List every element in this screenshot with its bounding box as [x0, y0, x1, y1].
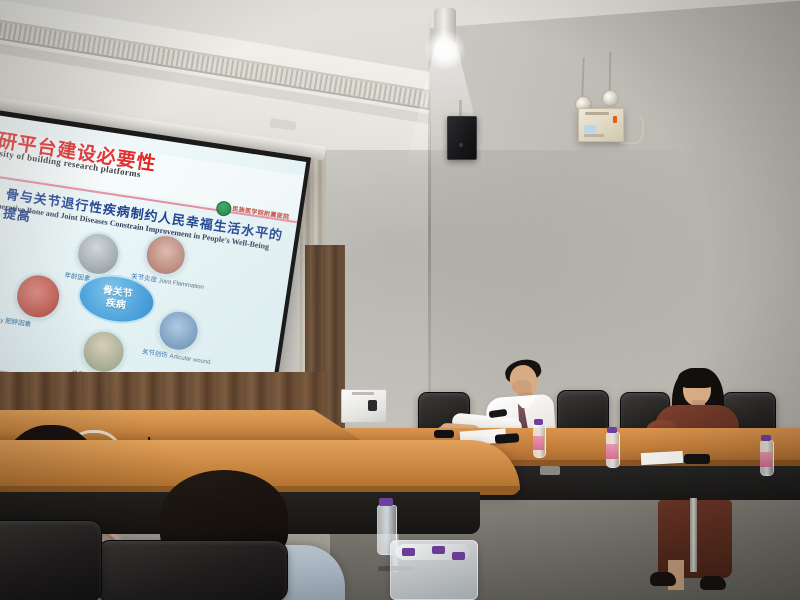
smartphone[interactable] [684, 454, 710, 464]
spotlight-glow [424, 30, 466, 70]
seated-woman-fringe [679, 372, 697, 388]
bottle-cap [432, 546, 445, 554]
emergency-lamp-right [602, 90, 619, 107]
bottle-cap [452, 552, 465, 560]
bottle-label [533, 436, 544, 450]
bottle-cap [761, 435, 771, 441]
chair-backrest [96, 540, 288, 600]
table-cable-latch[interactable] [540, 466, 560, 475]
chair-backrest [0, 520, 102, 600]
smartphone[interactable] [495, 433, 520, 444]
bottle-cap [607, 427, 617, 433]
paper-shredder-button[interactable] [368, 400, 377, 411]
bottle-label [760, 452, 772, 467]
emergency-light-badge [584, 125, 596, 133]
emergency-light-slot [585, 112, 609, 115]
wall-speaker-icon [447, 116, 477, 160]
emergency-light-led [613, 116, 617, 123]
table-leg [690, 498, 697, 572]
paper-sheet[interactable] [641, 451, 684, 465]
bottle-label [606, 444, 618, 459]
smartphone[interactable] [434, 430, 454, 438]
seated-woman-shoe [650, 572, 676, 586]
bottle-cap [402, 548, 415, 556]
speaker-led [459, 143, 463, 147]
seated-woman-shoe [700, 576, 726, 590]
conference-room-photo: 科研平台建设必要性 Necessity of building research… [0, 0, 800, 600]
bottle-cap [379, 498, 393, 506]
emergency-light-text-strip [584, 134, 604, 137]
bottle-cap [534, 419, 543, 425]
paper-shredder-slot [352, 392, 374, 395]
